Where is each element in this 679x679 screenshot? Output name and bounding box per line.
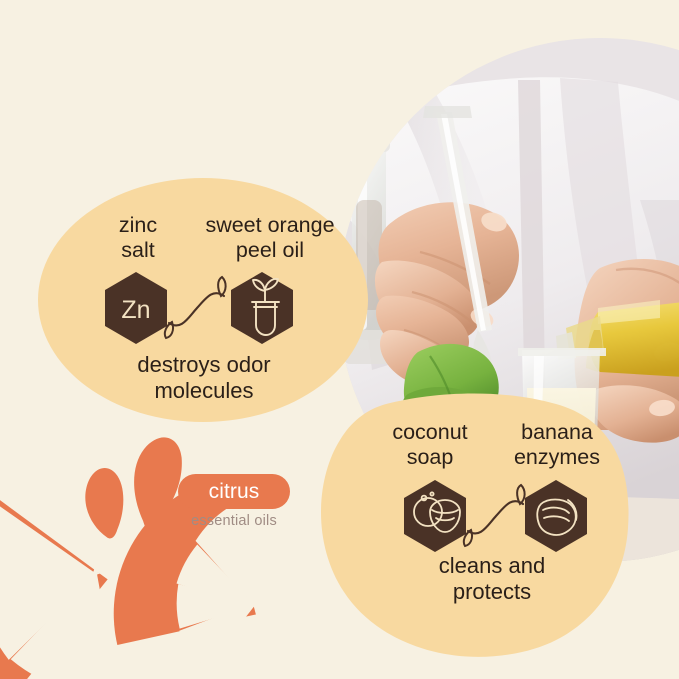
benefit-text-cleans-protects: cleans and protects [388,553,596,604]
vine-leaf-icon [464,485,525,546]
coconut-soap-icon [404,480,466,552]
vine-connector-icon [468,501,523,533]
banana-bunch-icon [525,480,587,552]
citrus-badge-label: citrus [209,481,260,502]
infographic-canvas: zinc salt sweet orange peel oil Zn [0,0,679,679]
citrus-badge-sublabel: essential oils [158,513,310,529]
citrus-badge[interactable]: citrus [178,474,290,509]
